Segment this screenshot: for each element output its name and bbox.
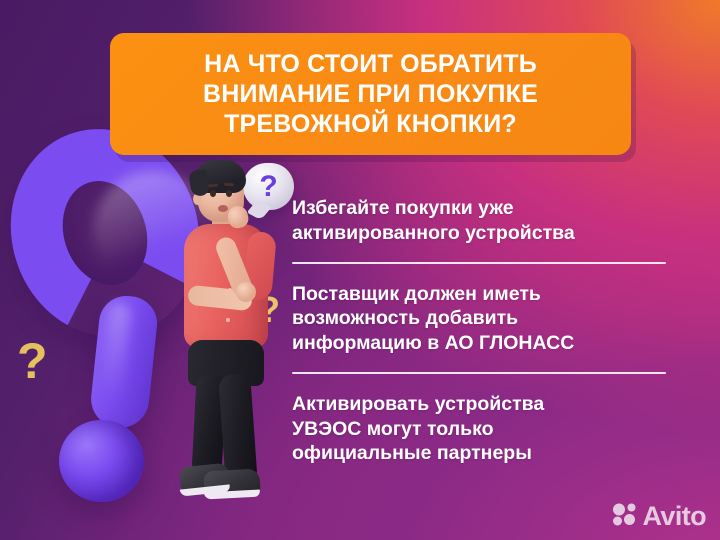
character-shoe-sole-front xyxy=(204,490,260,500)
speech-bubble: ? xyxy=(243,163,294,210)
mini-question-mark-left-icon: ? xyxy=(17,336,48,386)
headline-card: НА ЧТО СТОИТ ОБРАТИТЬ ВНИМАНИЕ ПРИ ПОКУП… xyxy=(110,33,631,155)
tip-item: Поставщик должен иметь возможность добав… xyxy=(292,282,666,356)
tip-item: Активировать устройства УВЭОС могут толь… xyxy=(292,392,666,466)
avito-dots-icon xyxy=(612,502,638,531)
headline-text: НА ЧТО СТОИТ ОБРАТИТЬ ВНИМАНИЕ ПРИ ПОКУП… xyxy=(189,49,552,139)
tips-list: Избегайте покупки уже активированного ус… xyxy=(292,196,666,466)
avito-wordmark: Avito xyxy=(643,501,707,532)
character-shirt-button xyxy=(226,318,230,322)
tip-item: Избегайте покупки уже активированного ус… xyxy=(292,196,666,246)
character-mouth xyxy=(218,205,228,212)
character-eye-right xyxy=(226,190,232,197)
promo-banner: ? ? ? НА ЧТО СТОИТ ОБРАТИТЬ ВНИМАНИЕ П xyxy=(0,0,720,540)
character-hand-lower xyxy=(236,282,256,302)
character-eye-left xyxy=(210,190,216,197)
tip-divider xyxy=(292,262,666,264)
speech-bubble-question-icon: ? xyxy=(243,163,294,210)
character-illustration xyxy=(168,160,288,520)
avito-watermark: Avito xyxy=(612,501,707,532)
character-hair xyxy=(194,160,246,193)
question-mark-dot xyxy=(59,420,144,502)
tip-divider xyxy=(292,372,666,374)
